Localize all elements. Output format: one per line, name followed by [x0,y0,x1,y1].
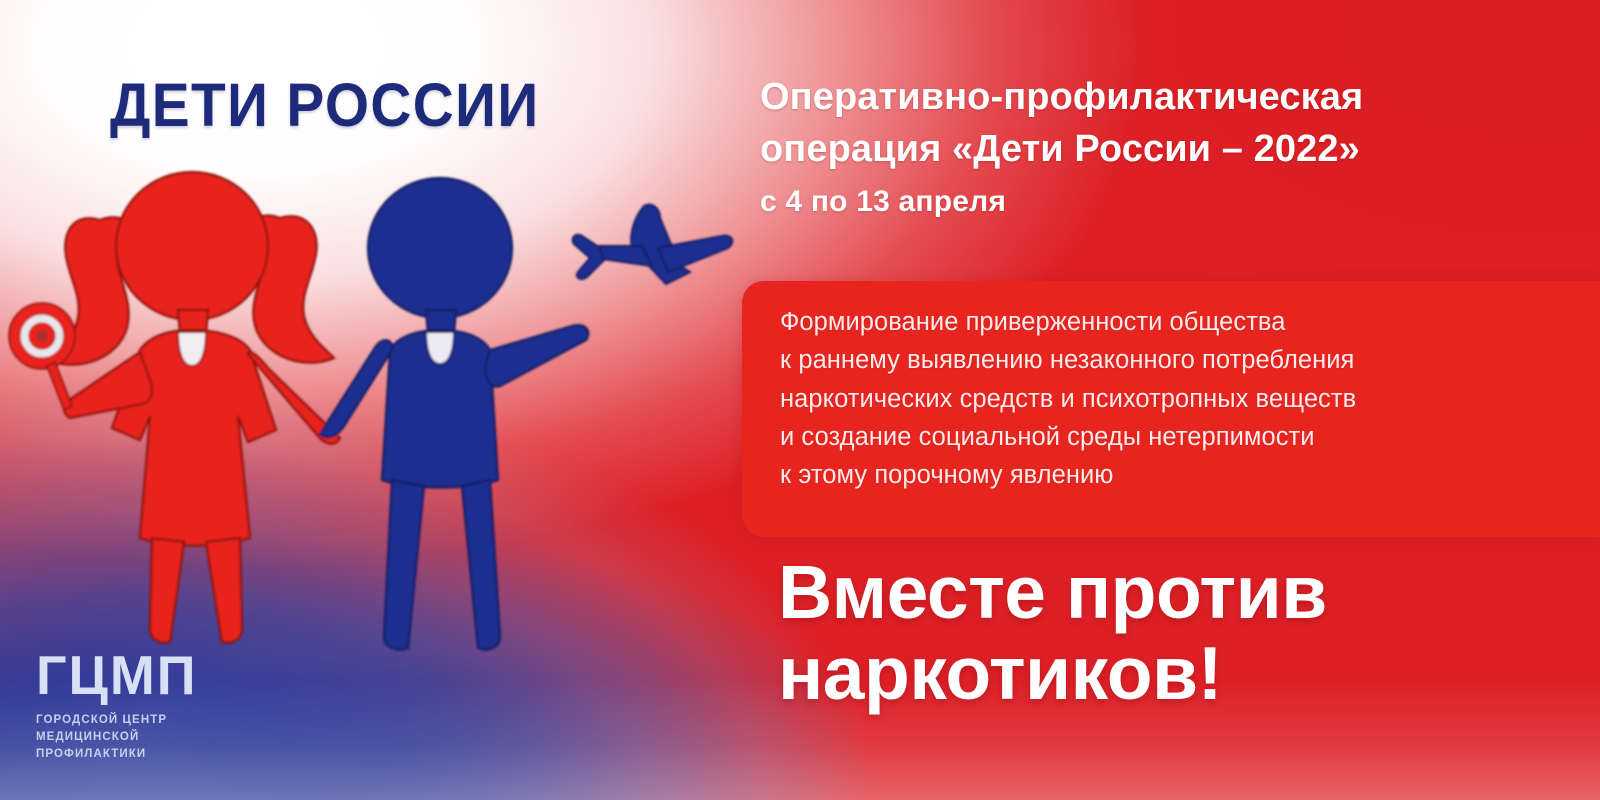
body-line-5: к этому порочному явлению [780,456,1580,494]
body-line-1: Формирование приверженности общества [780,303,1580,341]
gcmp-logo-subtitle-line-1: Городской центр [36,712,286,729]
poster-canvas: ДЕТИ РОССИИ [0,0,1600,800]
poster-left-title: ДЕТИ РОССИИ [110,70,540,140]
gcmp-logo-subtitle-line-2: медицинской [36,729,286,746]
girl-figure [48,172,340,642]
slogan-block: Вместе против наркотиков! [778,552,1578,714]
gcmp-logo-subtitle: Городской центр медицинской профилактики [36,712,286,762]
boy-figure [320,178,588,650]
body-text-block: Формирование приверженности общества к р… [780,303,1580,494]
slogan-line-1: Вместе против [778,552,1578,633]
headline-line-1: Оперативно-профилактическая [760,72,1590,124]
body-line-2: к раннему выявлению незаконного потребле… [780,341,1580,379]
body-line-4: и создание социальной среды нетерпимости [780,418,1580,456]
gcmp-logo: ГЦМП Городской центр медицинской профила… [36,648,286,762]
slogan-line-2: наркотиков! [778,633,1578,714]
campaign-dates: с 4 по 13 апреля [760,185,1590,219]
headline-block: Оперативно-профилактическая операция «Де… [760,72,1590,219]
lollipop-prop [9,303,75,410]
headline-line-2: операция «Дети России – 2022» [760,124,1590,176]
toy-airplane-prop [573,205,733,284]
gcmp-logo-subtitle-line-3: профилактики [36,746,286,763]
gcmp-logo-mark: ГЦМП [36,648,281,703]
body-line-3: наркотических средств и психотропных вещ… [780,380,1580,418]
children-illustration [0,150,760,680]
